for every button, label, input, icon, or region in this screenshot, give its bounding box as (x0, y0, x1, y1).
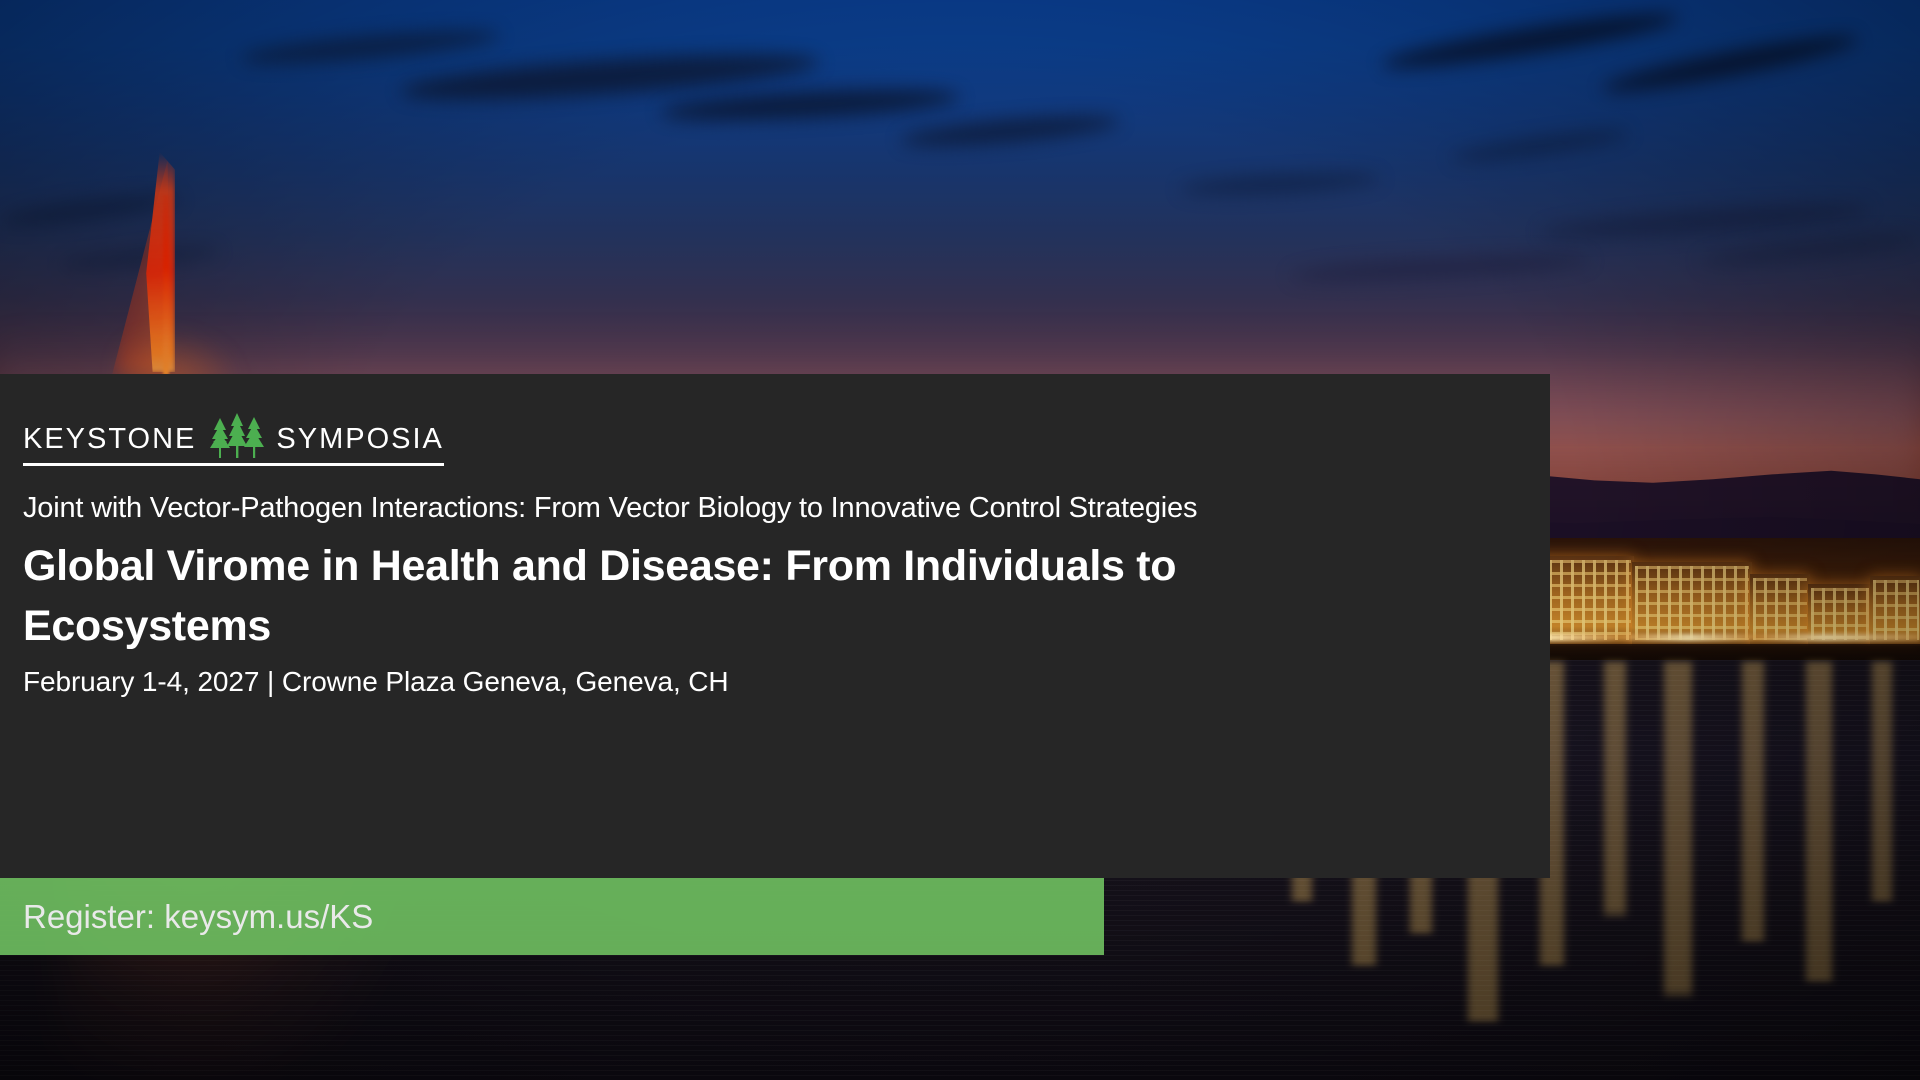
register-bar[interactable]: Register: keysym.us/KS (0, 878, 1104, 955)
pine-trees-icon (208, 412, 266, 458)
content-panel: KEYSTONE (0, 374, 1550, 878)
light-reflection (1664, 664, 1692, 994)
logo-word-symposia: SYMPOSIA (276, 424, 444, 454)
light-reflection (1604, 664, 1626, 914)
date-venue-line: February 1-4, 2027 | Crowne Plaza Geneva… (23, 666, 1550, 698)
logo-word-keystone: KEYSTONE (23, 424, 196, 454)
register-label: Register: keysym.us/KS (23, 898, 373, 935)
conference-banner: KEYSTONE (0, 0, 1920, 1080)
light-reflection (1742, 664, 1764, 944)
page-title: Global Virome in Health and Disease: Fro… (23, 536, 1343, 656)
keystone-symposia-logo: KEYSTONE (23, 420, 444, 466)
joint-meeting-line: Joint with Vector-Pathogen Interactions:… (23, 491, 1550, 525)
light-reflection (1806, 664, 1832, 984)
light-reflection (1872, 664, 1892, 904)
